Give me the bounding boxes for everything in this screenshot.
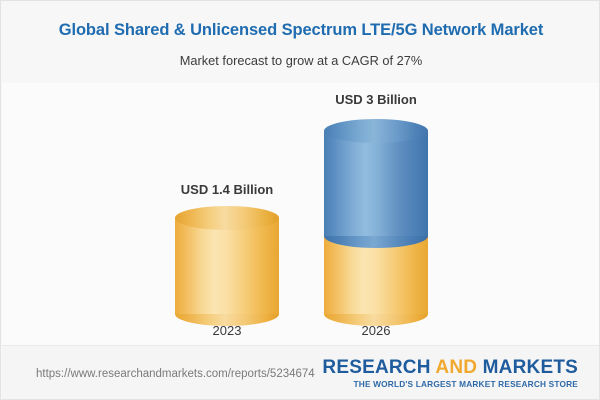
chart-plot-area: USD 1.4 Billion 2023 USD 3 Billion	[2, 83, 600, 345]
brand-logo: RESEARCH AND MARKETS THE WORLD'S LARGEST…	[322, 358, 578, 389]
brand-wordmark: RESEARCH AND MARKETS	[322, 358, 578, 378]
page-footer: https://www.researchandmarkets.com/repor…	[2, 345, 600, 400]
category-label-2023: 2023	[147, 323, 307, 338]
cylinder-2023	[175, 218, 279, 314]
bar-group-2023: USD 1.4 Billion 2023	[147, 83, 307, 345]
cylinder-segment-2023-base	[175, 218, 279, 314]
brand-word-and: AND	[435, 357, 477, 378]
chart-header: Global Shared & Unlicensed Spectrum LTE/…	[1, 1, 600, 83]
chart-page: Global Shared & Unlicensed Spectrum LTE/…	[0, 0, 600, 400]
report-url[interactable]: https://www.researchandmarkets.com/repor…	[36, 368, 315, 380]
cylinder-segment-2026-growth	[324, 131, 428, 236]
cylinder-top-ellipse-2023	[175, 206, 279, 230]
value-label-2026: USD 3 Billion	[296, 92, 456, 107]
brand-tagline: THE WORLD'S LARGEST MARKET RESEARCH STOR…	[322, 379, 578, 389]
value-label-2023: USD 1.4 Billion	[147, 182, 307, 197]
chart-subtitle: Market forecast to grow at a CAGR of 27%	[1, 53, 600, 68]
cylinder-top-ellipse-2026	[324, 119, 428, 143]
page-title: Global Shared & Unlicensed Spectrum LTE/…	[1, 21, 600, 40]
cylinder-body-2026-growth	[324, 131, 428, 236]
brand-word-markets: MARKETS	[477, 357, 578, 378]
cylinder-body-2023	[175, 218, 279, 314]
category-label-2026: 2026	[296, 323, 456, 338]
bar-group-2026: USD 3 Billion 2026	[296, 83, 456, 345]
brand-word-research: RESEARCH	[322, 357, 435, 378]
cylinder-2026	[324, 119, 428, 314]
